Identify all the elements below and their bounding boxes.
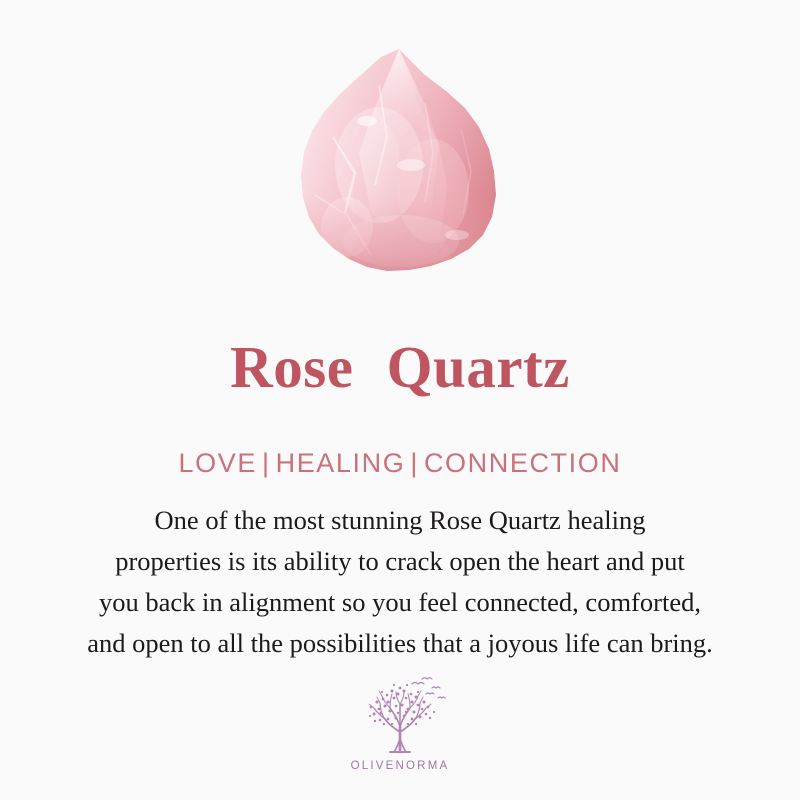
keyword-love: LOVE: [179, 448, 257, 478]
keyword-connection: CONNECTION: [424, 448, 622, 478]
hero-image-area: [0, 0, 800, 300]
keyword-separator-1: |: [257, 448, 276, 478]
tree-of-life-icon: [354, 676, 446, 758]
bird-icons: [412, 678, 445, 698]
crystal-sparkle-2: [397, 159, 425, 171]
keyword-separator-2: |: [405, 448, 424, 478]
brand-logo: OLIVENORMA: [0, 676, 800, 772]
description-line: One of the most stunning Rose Quartz hea…: [20, 500, 780, 541]
crystal-sparkle-1: [357, 116, 377, 126]
keyword-tagline: LOVE|HEALING|CONNECTION: [0, 446, 800, 480]
description-line: and open to all the possibilities that a…: [20, 623, 780, 664]
description-line: you back in alignment so you feel connec…: [20, 582, 780, 623]
page-title: Rose Quartz: [0, 332, 800, 402]
product-info-card: Rose Quartz LOVE|HEALING|CONNECTION One …: [0, 0, 800, 800]
keyword-healing: HEALING: [276, 448, 406, 478]
description-line: properties is its ability to crack open …: [20, 541, 780, 582]
brand-wordmark: OLIVENORMA: [0, 760, 800, 772]
description-paragraph: One of the most stunning Rose Quartz hea…: [20, 500, 780, 664]
rose-quartz-crystal-image: [275, 45, 525, 290]
tree-foliage: [369, 684, 435, 725]
crystal-sparkle-3: [445, 230, 469, 240]
